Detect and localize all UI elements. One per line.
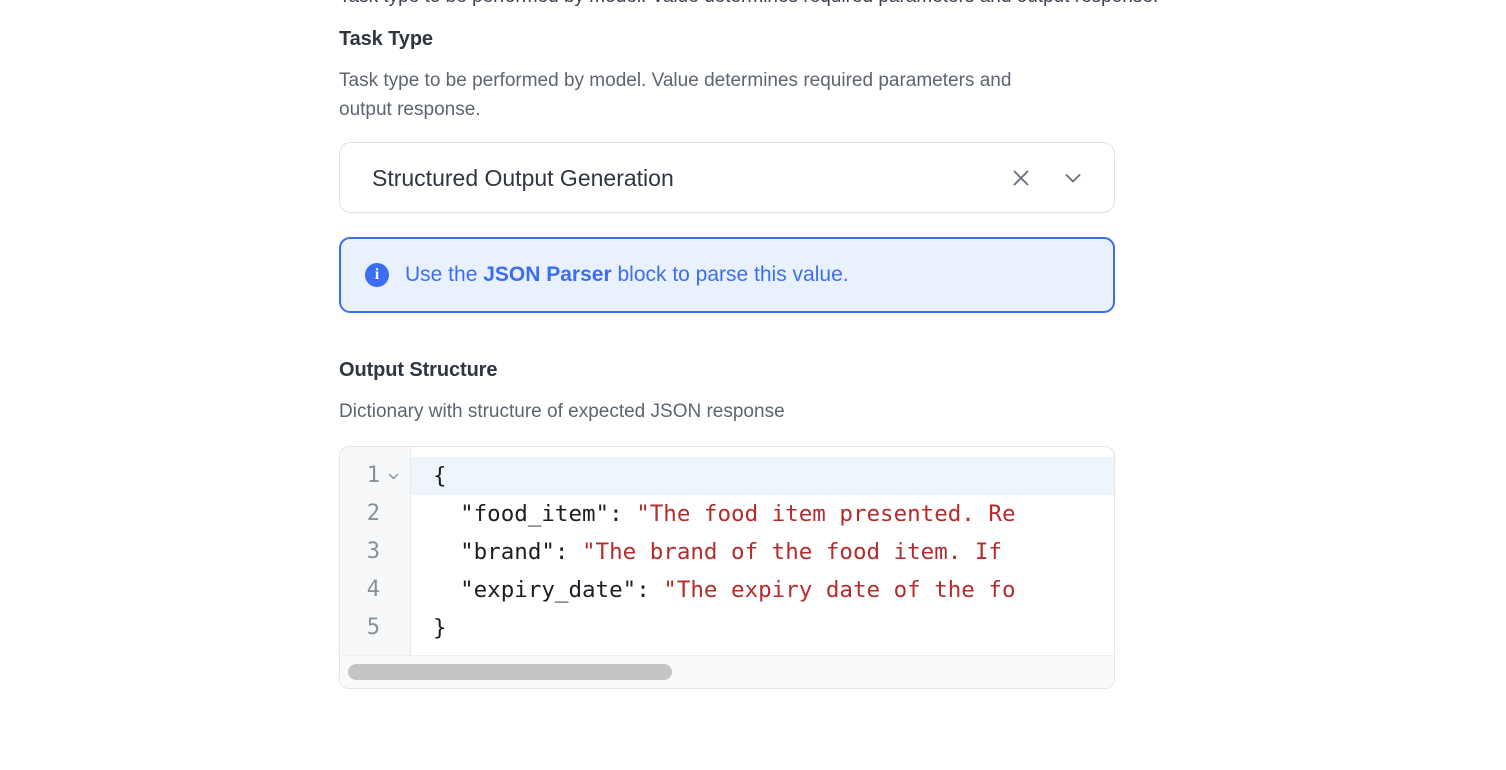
task-type-selected-value: Structured Output Generation [372, 164, 1008, 192]
fold-spacer [387, 546, 400, 559]
info-circle-icon: i [365, 263, 389, 287]
chevron-down-icon[interactable] [1060, 165, 1086, 191]
json-parser-info-callout: i Use the JSON Parser block to parse thi… [339, 237, 1115, 313]
line-number: 2 [367, 495, 380, 533]
fold-spacer [387, 584, 400, 597]
settings-panel: Task Type Task type to be performed by m… [339, 26, 1115, 689]
callout-message: Use the JSON Parser block to parse this … [405, 261, 849, 289]
task-type-label: Task Type [339, 26, 1115, 52]
task-type-select[interactable]: Structured Output Generation [339, 142, 1115, 213]
editor-code-area[interactable]: { "food_item": "The food item presented.… [411, 447, 1114, 655]
output-structure-code-editor[interactable]: 12345 { "food_item": "The food item pres… [339, 446, 1115, 689]
editor-gutter: 12345 [340, 447, 411, 655]
callout-text-before: Use the [405, 263, 483, 286]
code-token-str: "The expiry date of the fo [663, 577, 1015, 603]
code-line-1[interactable]: { [411, 457, 1114, 495]
code-token-key: "food_item": [433, 501, 636, 527]
code-line-3[interactable]: "brand": "The brand of the food item. If [411, 533, 1114, 571]
output-structure-description: Dictionary with structure of expected JS… [339, 397, 1039, 426]
close-x-icon[interactable] [1008, 165, 1034, 191]
fold-spacer [387, 508, 400, 521]
gutter-line-1: 1 [340, 457, 410, 495]
task-type-description: Task type to be performed by model. Valu… [339, 66, 1039, 124]
page-root: Task type to be performed by model. Valu… [0, 0, 1506, 770]
gutter-line-3: 3 [340, 533, 410, 571]
callout-text-after: block to parse this value. [612, 263, 849, 286]
gutter-line-5: 5 [340, 609, 410, 647]
code-token-key: "expiry_date": [433, 577, 663, 603]
callout-link-json-parser[interactable]: JSON Parser [483, 263, 611, 286]
fold-spacer [387, 622, 400, 635]
code-line-2[interactable]: "food_item": "The food item presented. R… [411, 495, 1114, 533]
output-structure-label: Output Structure [339, 357, 1115, 383]
chevron-down-icon[interactable] [387, 470, 400, 483]
code-token-str: "The food item presented. Re [636, 501, 1015, 527]
editor-body: 12345 { "food_item": "The food item pres… [340, 447, 1114, 655]
code-token-key: "brand": [433, 539, 582, 565]
line-number: 4 [367, 571, 380, 609]
code-line-5[interactable]: } [411, 609, 1114, 647]
clipped-top-text: Task type to be performed by model. Valu… [339, 0, 1439, 8]
editor-horizontal-scrollbar[interactable] [340, 655, 1114, 688]
gutter-line-2: 2 [340, 495, 410, 533]
code-token-punc: } [433, 615, 447, 641]
line-number: 3 [367, 533, 380, 571]
code-token-str: "The brand of the food item. If [582, 539, 1002, 565]
code-token-punc: { [433, 463, 447, 489]
select-icon-group [1008, 165, 1096, 191]
line-number: 1 [367, 457, 380, 495]
gutter-line-4: 4 [340, 571, 410, 609]
code-line-4[interactable]: "expiry_date": "The expiry date of the f… [411, 571, 1114, 609]
scrollbar-thumb[interactable] [348, 664, 672, 680]
line-number: 5 [367, 609, 380, 647]
